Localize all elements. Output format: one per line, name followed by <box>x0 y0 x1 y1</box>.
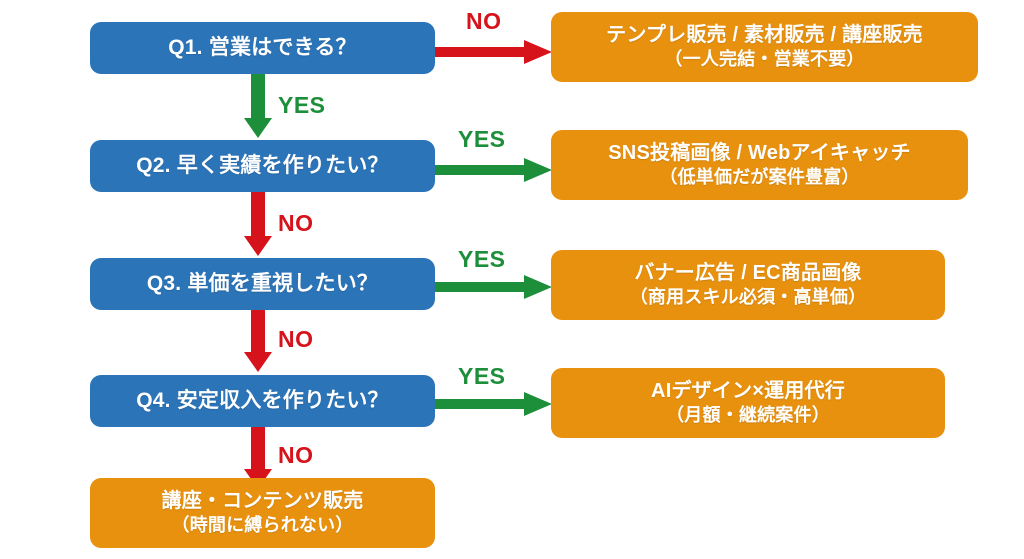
result-box-r2[interactable]: SNS投稿画像 / Webアイキャッチ （低単価だが案件豊富） <box>551 130 968 200</box>
result-label-r3-line2: （商用スキル必須・高単価） <box>630 287 867 308</box>
edge-label-q3-yes: YES <box>458 246 506 273</box>
arrow-q4-yes <box>432 392 554 416</box>
edge-label-q3-no: NO <box>278 326 314 353</box>
question-box-q4[interactable]: Q4. 安定収入を作りたい？ <box>90 375 435 427</box>
question-box-q1[interactable]: Q1. 営業はできる？ <box>90 22 435 74</box>
question-box-q3[interactable]: Q3. 単価を重視したい？ <box>90 258 435 310</box>
result-box-r4[interactable]: AIデザイン×運用代行 （月額・継続案件） <box>551 368 945 438</box>
arrow-q2-yes <box>432 158 554 182</box>
arrow-q3-no <box>244 308 272 374</box>
result-label-r2-line1: SNS投稿画像 / Webアイキャッチ <box>608 142 910 166</box>
question-label-q3: Q3. 単価を重視したい？ <box>147 272 378 297</box>
question-box-q2[interactable]: Q2. 早く実績を作りたい？ <box>90 140 435 192</box>
result-label-r1-line1: テンプレ販売 / 素材販売 / 講座販売 <box>606 24 923 48</box>
result-label-r5-line2: （時間に縛られない） <box>172 515 354 536</box>
edge-label-q2-yes: YES <box>458 126 506 153</box>
arrow-q2-no <box>244 190 272 258</box>
question-label-q2: Q2. 早く実績を作りたい？ <box>136 154 388 179</box>
result-box-r1[interactable]: テンプレ販売 / 素材販売 / 講座販売 （一人完結・営業不要） <box>551 12 978 82</box>
arrow-q3-yes <box>432 275 554 299</box>
question-label-q1: Q1. 営業はできる？ <box>168 36 356 61</box>
arrow-q1-no <box>432 40 554 64</box>
flowchart-canvas: NO YES YES NO YES NO YES <box>0 0 1024 559</box>
result-label-r3-line1: バナー広告 / EC商品画像 <box>634 262 861 286</box>
edge-label-q2-no: NO <box>278 210 314 237</box>
result-label-r5-line1: 講座・コンテンツ販売 <box>162 490 364 514</box>
result-label-r4-line2: （月額・継続案件） <box>666 405 830 426</box>
edge-label-q1-no: NO <box>466 8 502 35</box>
result-label-r1-line2: （一人完結・営業不要） <box>664 49 864 70</box>
result-label-r2-line2: （低単価だが案件豊富） <box>659 167 859 188</box>
arrow-q1-yes <box>244 72 272 140</box>
edge-label-q4-yes: YES <box>458 363 506 390</box>
result-label-r4-line1: AIデザイン×運用代行 <box>651 380 845 404</box>
edge-label-q4-no: NO <box>278 442 314 469</box>
result-box-r3[interactable]: バナー広告 / EC商品画像 （商用スキル必須・高単価） <box>551 250 945 320</box>
question-label-q4: Q4. 安定収入を作りたい？ <box>136 389 388 414</box>
result-box-r5[interactable]: 講座・コンテンツ販売 （時間に縛られない） <box>90 478 435 548</box>
edge-label-q1-yes: YES <box>278 92 326 119</box>
